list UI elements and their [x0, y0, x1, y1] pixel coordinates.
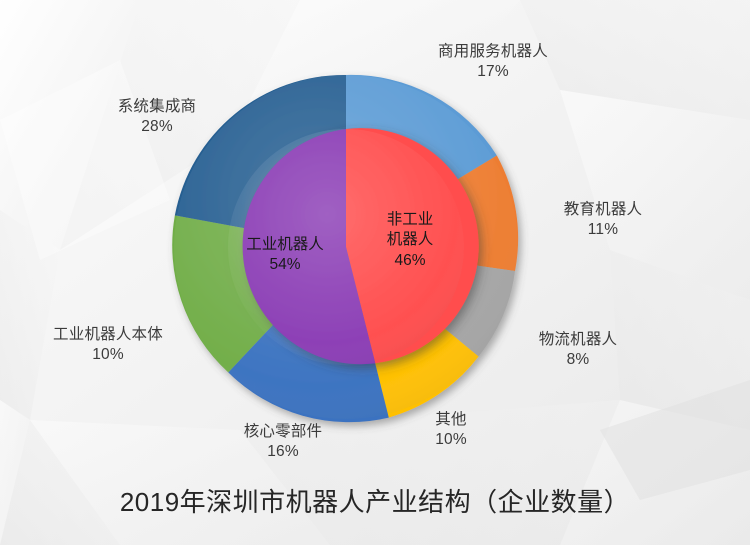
callout-logistics-label: 物流机器人 — [539, 331, 618, 348]
callout-commercial-service-value: 17% — [393, 62, 593, 82]
callout-system-integrator-value: 28% — [92, 117, 222, 137]
inner-label-industrial-value: 54% — [225, 255, 345, 275]
chart-title: 2019年深圳市机器人产业结构（企业数量） — [0, 482, 750, 519]
callout-commercial-service-label: 商用服务机器人 — [438, 43, 548, 60]
callout-other-value: 10% — [406, 430, 496, 450]
callout-core-components: 核心零部件 16% — [218, 422, 348, 463]
callout-education-value: 11% — [528, 220, 678, 240]
callout-commercial-service: 商用服务机器人 17% — [393, 42, 593, 83]
callout-logistics: 物流机器人 8% — [503, 330, 653, 371]
chart-canvas: 非工业 机器人 46% 工业机器人 54% 商用服务机器人 17% 教育机器人 … — [0, 0, 750, 545]
inner-label-non-industrial-line1: 非工业 — [387, 211, 434, 228]
callout-industrial-body-label: 工业机器人本体 — [53, 326, 163, 343]
callout-other-label: 其他 — [435, 411, 466, 428]
inner-label-industrial: 工业机器人 54% — [225, 235, 345, 276]
callout-core-components-value: 16% — [218, 442, 348, 462]
callout-other: 其他 10% — [406, 410, 496, 451]
inner-label-non-industrial-value: 46% — [355, 251, 465, 271]
callout-core-components-label: 核心零部件 — [244, 423, 323, 440]
inner-label-non-industrial-line2: 机器人 — [387, 231, 434, 248]
callout-system-integrator-label: 系统集成商 — [118, 98, 197, 115]
callout-education: 教育机器人 11% — [528, 200, 678, 241]
callout-education-label: 教育机器人 — [564, 201, 643, 218]
callout-logistics-value: 8% — [503, 350, 653, 370]
callout-industrial-body: 工业机器人本体 10% — [28, 325, 188, 366]
nested-donut-chart — [0, 0, 750, 545]
callout-system-integrator: 系统集成商 28% — [92, 97, 222, 138]
inner-label-industrial-line1: 工业机器人 — [246, 236, 324, 253]
inner-label-non-industrial: 非工业 机器人 46% — [355, 210, 465, 271]
callout-industrial-body-value: 10% — [28, 345, 188, 365]
